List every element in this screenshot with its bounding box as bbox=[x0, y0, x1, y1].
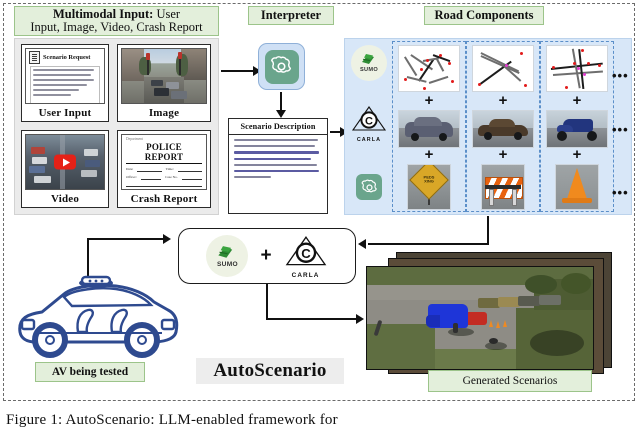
scenario-description-title: Scenario Description bbox=[229, 119, 327, 135]
document-icon bbox=[29, 51, 40, 64]
city-traffic-photo bbox=[121, 48, 207, 104]
svg-text:C: C bbox=[365, 116, 373, 128]
report-field-label: Officer: bbox=[126, 175, 137, 180]
construction-barricade bbox=[481, 164, 525, 210]
carla-logo-icon: C CARLA bbox=[284, 236, 328, 276]
police-report-title: POLICE REPORT bbox=[126, 142, 202, 164]
input-card-label-video: Video bbox=[22, 190, 108, 207]
input-card-label-crash-report: Crash Report bbox=[118, 190, 210, 207]
generated-scenario-frame-1 bbox=[366, 266, 594, 370]
arrow-head-interpreter-to-description bbox=[276, 110, 286, 118]
arrow-road-components-to-simulator-v bbox=[487, 216, 489, 245]
arrow-head-to-simulator bbox=[358, 239, 366, 249]
video-thumbnail bbox=[25, 134, 105, 190]
arrow-simulator-to-generated-h bbox=[266, 318, 358, 320]
road-network-sketch-3 bbox=[546, 45, 608, 92]
plus-symbol: + bbox=[573, 93, 582, 108]
report-field-label: Date: bbox=[126, 167, 133, 172]
sumo-logo-icon: SUMO bbox=[206, 235, 248, 277]
carla-logo-icon: C CARLA bbox=[350, 104, 388, 142]
scenario-description-box: Scenario Description bbox=[228, 118, 328, 214]
road-components-source-icons: SUMO C CARLA bbox=[348, 40, 390, 213]
road-component-column-1: + + PEDSXING bbox=[392, 41, 466, 212]
sumo-label: SUMO bbox=[360, 67, 378, 73]
plus-symbol: + bbox=[499, 147, 508, 162]
arrow-input-to-interpreter bbox=[221, 70, 255, 72]
ellipsis-row-networks: ••• bbox=[612, 68, 629, 83]
sumo-logo-icon: SUMO bbox=[350, 44, 388, 82]
user-input-document-thumbnail: Scenario Request bbox=[25, 48, 105, 104]
multimodal-title-line2: Input, Image, Video, Crash Report bbox=[30, 20, 202, 34]
input-card-crash-report[interactable]: Department POLICE REPORT Date: Time: Off… bbox=[117, 130, 211, 208]
svg-text:C: C bbox=[301, 246, 311, 261]
plus-symbol: + bbox=[573, 147, 582, 162]
scenario-request-title: Scenario Request bbox=[43, 54, 90, 61]
carla-label: CARLA bbox=[284, 272, 328, 279]
police-report-thumbnail: Department POLICE REPORT Date: Time: Off… bbox=[121, 134, 207, 190]
sedan-photo bbox=[472, 110, 534, 148]
multimodal-title-bold: Multimodal Input: bbox=[53, 7, 153, 21]
police-report-department: Department bbox=[126, 137, 202, 141]
input-card-label-image: Image bbox=[118, 104, 210, 121]
openai-logo-icon bbox=[265, 50, 299, 84]
input-card-label-user-input: User Input bbox=[22, 104, 108, 121]
plus-symbol: + bbox=[260, 245, 271, 267]
carla-label: CARLA bbox=[351, 137, 387, 143]
report-field-label: Time: bbox=[166, 167, 174, 172]
report-field-label: Case No. bbox=[165, 175, 177, 180]
play-button-icon[interactable] bbox=[54, 155, 76, 170]
yellow-diamond-sign: PEDSXING bbox=[407, 164, 451, 210]
road-component-column-2: + + bbox=[466, 41, 540, 212]
autonomous-vehicle-icon bbox=[12, 270, 184, 360]
generated-scenarios-label: Generated Scenarios bbox=[428, 370, 592, 392]
input-card-image[interactable]: Image bbox=[117, 44, 211, 122]
interpreter-model-box[interactable] bbox=[258, 43, 305, 90]
arrow-road-components-to-simulator-h bbox=[368, 243, 489, 245]
plus-symbol: + bbox=[425, 93, 434, 108]
arrow-head-simulator-to-generated bbox=[356, 314, 364, 324]
openai-logo-icon bbox=[350, 168, 388, 206]
ellipsis-row-vehicles: ••• bbox=[612, 122, 629, 137]
motorcycle-photo bbox=[546, 110, 608, 148]
autoscenario-wordmark: AutoScenario bbox=[196, 358, 344, 384]
plus-symbol: + bbox=[425, 147, 434, 162]
arrow-av-to-simulator-h bbox=[87, 238, 165, 240]
multimodal-title-rest: User bbox=[153, 7, 180, 21]
sumo-label: SUMO bbox=[217, 261, 238, 268]
arrow-simulator-to-generated-v bbox=[266, 284, 268, 320]
av-being-tested-label: AV being tested bbox=[35, 362, 145, 382]
interpreter-title: Interpreter bbox=[248, 6, 334, 25]
input-card-video[interactable]: Video bbox=[21, 130, 109, 208]
road-components-title: Road Components bbox=[424, 6, 544, 25]
figure-caption: Figure 1: AutoScenario: LLM-enabled fram… bbox=[6, 412, 634, 429]
scenario-request-text-lines bbox=[30, 66, 100, 104]
figure-root: Multimodal Input: User Input, Image, Vid… bbox=[0, 0, 640, 435]
ellipsis-row-objects: ••• bbox=[612, 185, 629, 200]
arrow-head-av-to-simulator bbox=[163, 234, 171, 244]
road-network-sketch-2 bbox=[472, 45, 534, 92]
plus-symbol: + bbox=[499, 93, 508, 108]
traffic-cone bbox=[555, 164, 599, 210]
road-component-column-3: + + bbox=[540, 41, 614, 212]
simulator-box[interactable]: SUMO + C CARLA bbox=[178, 228, 356, 284]
scenario-description-lines bbox=[229, 135, 327, 186]
suv-photo bbox=[398, 110, 460, 148]
input-card-user-input[interactable]: Scenario Request User Input bbox=[21, 44, 109, 122]
multimodal-input-title: Multimodal Input: User Input, Image, Vid… bbox=[14, 6, 219, 36]
road-network-sketch-1 bbox=[398, 45, 460, 92]
